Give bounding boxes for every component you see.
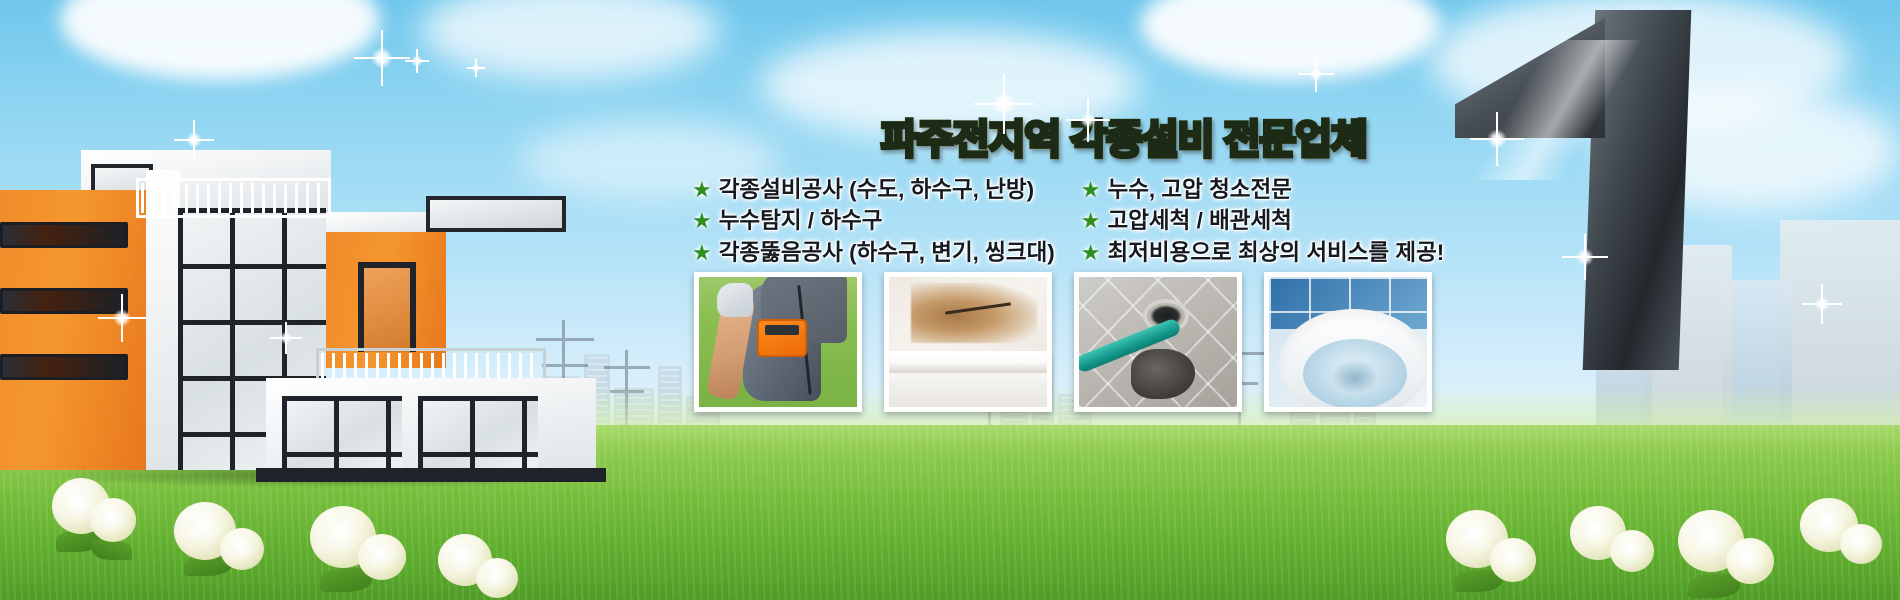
white-carnation-flowers <box>300 498 420 600</box>
star-icon: ★ <box>692 175 712 205</box>
star-icon: ★ <box>692 238 712 268</box>
bullet-label: 각종설비공사 (수도, 하수구, 난방) <box>719 174 1034 205</box>
modern-orange-house-illustration <box>0 150 636 480</box>
star-icon: ★ <box>692 206 712 236</box>
list-item: ★ 최저비용으로 최상의 서비스를 제공! <box>1081 237 1444 268</box>
white-carnation-flowers <box>1438 500 1548 600</box>
water-damage-ceiling-photo <box>884 272 1052 412</box>
toilet-flush-photo <box>1264 272 1432 412</box>
list-item: ★ 누수탐지 / 하수구 <box>692 205 1055 236</box>
bullet-label: 누수탐지 / 하수구 <box>719 205 883 236</box>
bullet-label: 누수, 고압 청소전문 <box>1108 174 1292 205</box>
page-title: 파주전지역 각종설비 전문업체 <box>688 118 1548 162</box>
white-carnation-flowers <box>1792 484 1892 584</box>
promo-text-block: 파주전지역 각종설비 전문업체 ★ 각종설비공사 (수도, 하수구, 난방) ★… <box>688 118 1548 268</box>
drain-hose-cleaning-photo <box>1074 272 1242 412</box>
list-item: ★ 각종설비공사 (수도, 하수구, 난방) <box>692 174 1055 205</box>
bullet-label: 각종뚫음공사 (하수구, 변기, 씽크대) <box>719 237 1055 268</box>
star-icon: ★ <box>1081 206 1101 236</box>
bullet-label: 고압세척 / 배관세척 <box>1108 205 1292 236</box>
white-carnation-flowers <box>1564 494 1664 594</box>
white-carnation-flowers <box>42 468 142 578</box>
list-item: ★ 누수, 고압 청소전문 <box>1081 174 1444 205</box>
list-item: ★ 각종뚫음공사 (하수구, 변기, 씽크대) <box>692 237 1055 268</box>
bullet-label: 최저비용으로 최상의 서비스를 제공! <box>1108 237 1445 268</box>
white-carnation-flowers <box>1668 502 1788 600</box>
bullet-column-left: ★ 각종설비공사 (수도, 하수구, 난방) ★ 누수탐지 / 하수구 ★ 각종… <box>692 174 1055 268</box>
service-photo-gallery <box>694 272 1432 412</box>
leak-detection-technician-photo <box>694 272 862 412</box>
bullet-column-right: ★ 누수, 고압 청소전문 ★ 고압세척 / 배관세척 ★ 최저비용으로 최상의… <box>1081 174 1444 268</box>
service-bullet-columns: ★ 각종설비공사 (수도, 하수구, 난방) ★ 누수탐지 / 하수구 ★ 각종… <box>688 174 1548 268</box>
white-carnation-flowers <box>432 518 532 600</box>
list-item: ★ 고압세척 / 배관세척 <box>1081 205 1444 236</box>
star-icon: ★ <box>1081 238 1101 268</box>
white-carnation-flowers <box>168 488 278 598</box>
star-icon: ★ <box>1081 175 1101 205</box>
service-advertisement-banner: 파주전지역 각종설비 전문업체 ★ 각종설비공사 (수도, 하수구, 난방) ★… <box>0 0 1900 600</box>
